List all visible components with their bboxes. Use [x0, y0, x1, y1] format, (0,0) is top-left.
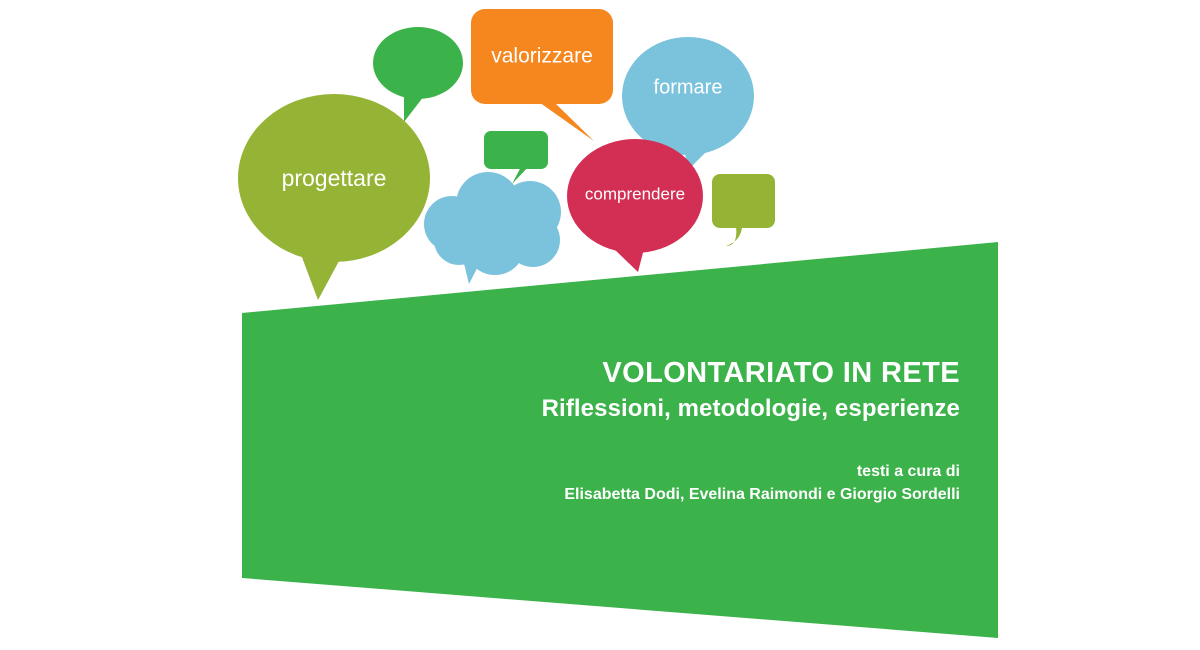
green-banner — [242, 242, 998, 638]
bubble-progettare-tail — [300, 250, 345, 300]
bubble-green-small-body — [373, 27, 463, 99]
bubble-olive-rect — [712, 174, 775, 246]
bubble-comprendere-label: comprendere — [585, 184, 685, 203]
bubble-green-rect-body — [484, 131, 548, 169]
bubble-comprendere-tail — [612, 245, 645, 272]
bubble-blue-cloud-core — [452, 205, 534, 257]
bubble-progettare-label: progettare — [282, 165, 387, 191]
bubble-olive-rect-body — [712, 174, 775, 228]
bubble-valorizzare: valorizzare — [471, 9, 613, 141]
book-cover: progettare valorizzare formare — [0, 0, 1200, 650]
cover-artwork: progettare valorizzare formare — [0, 0, 1200, 650]
bubble-formare-label: formare — [654, 76, 723, 98]
bubble-progettare: progettare — [238, 94, 430, 300]
bubble-valorizzare-label: valorizzare — [491, 45, 593, 68]
bubble-blue-cloud — [424, 172, 561, 284]
bubble-green-small-tail — [404, 92, 424, 122]
bubble-comprendere: comprendere — [567, 139, 703, 272]
